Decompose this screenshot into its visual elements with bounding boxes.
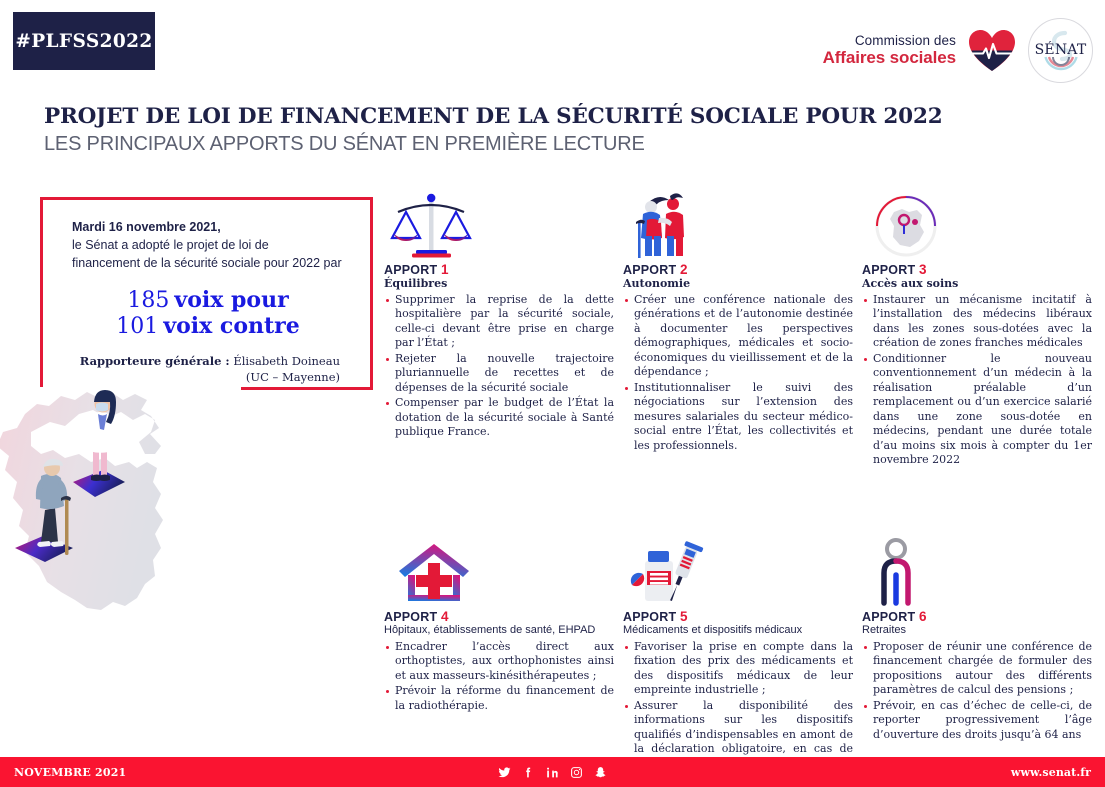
medical-access-map-icon (862, 184, 1092, 262)
snapchat-icon[interactable] (594, 766, 607, 779)
apport-card-3: APPORT 3 Accès aux soins Instaurer un mé… (862, 184, 1092, 469)
vote-text-line1: le Sénat a adopté le projet de loi de (72, 236, 344, 254)
senat-logo: SÉNAT (1028, 18, 1093, 83)
list-item: Proposer de réunir une conférence de fin… (862, 640, 1092, 698)
linkedin-icon[interactable] (546, 766, 559, 779)
svg-text:SÉNAT: SÉNAT (1035, 40, 1087, 58)
apport-card-2: APPORT 2 Autonomie Créer une conférence … (623, 184, 853, 469)
votes-for: 185 voix pour (72, 288, 344, 314)
apport-number: 3 (919, 262, 927, 277)
apport-card-4: APPORT 4 Hôpitaux, établissements de san… (384, 531, 614, 787)
twitter-icon[interactable] (498, 766, 511, 779)
infographic-page: #PLFSS2022 Commission des Affaires socia… (0, 0, 1105, 787)
apport-number: 6 (919, 609, 927, 624)
list-item: Prévoir, en cas d’échec de celle-ci, de … (862, 699, 1092, 743)
instagram-icon[interactable] (570, 766, 583, 779)
apport-card-2-bullets: Créer une conférence nationale des génér… (623, 293, 853, 454)
medicine-syringe-icon (623, 531, 853, 609)
page-subtitle: LES PRINCIPAUX APPORTS DU SÉNAT EN PREMI… (44, 133, 645, 156)
list-item: Instaurer un mécanisme incitatif à l’ins… (862, 293, 1092, 351)
list-item: Institutionnaliser le suivi des négociat… (623, 381, 853, 454)
votes-against-count: 101 (116, 314, 158, 339)
brand-block: Commission des Affaires sociales SÉNAT (823, 18, 1093, 83)
list-item: Supprimer la reprise de la dette hospita… (384, 293, 614, 351)
apport-card-2-head: APPORT 2 (623, 262, 853, 277)
apport-label: APPORT (862, 610, 915, 624)
vote-date: Mardi 16 novembre 2021, (72, 218, 344, 236)
hashtag-label: #PLFSS2022 (15, 31, 152, 52)
apport-card-1-subtitle: Équilibres (384, 277, 614, 291)
apport-card-4-subtitle: Hôpitaux, établissements de santé, EHPAD (384, 624, 614, 638)
list-item: Créer une conférence nationale des génér… (623, 293, 853, 380)
list-item: Rejeter la nouvelle trajectoire pluriann… (384, 352, 614, 396)
retired-person-cane-icon (862, 531, 1092, 609)
footer-date: NOVEMBRE 2021 (14, 766, 126, 779)
hashtag-badge: #PLFSS2022 (13, 12, 155, 70)
apport-label: APPORT (623, 610, 676, 624)
commission-line2: Affaires sociales (823, 48, 956, 68)
votes-for-label: voix pour (174, 287, 288, 313)
list-item: Encadrer l’accès direct aux orthoptistes… (384, 640, 614, 684)
apport-card-6-bullets: Proposer de réunir une conférence de fin… (862, 640, 1092, 743)
facebook-icon[interactable] (522, 766, 535, 779)
vote-text-line2: financement de la sécurité sociale pour … (72, 254, 344, 272)
page-title: PROJET DE LOI DE FINANCEMENT DE LA SÉCUR… (44, 104, 942, 129)
hospital-cross-icon (384, 531, 614, 609)
apport-card-1-head: APPORT 1 (384, 262, 614, 277)
apports-row-1: APPORT 1 Équilibres Supprimer la reprise… (384, 184, 1096, 469)
votes-against-label: voix contre (163, 313, 299, 339)
footer-url: www.senat.fr (1011, 766, 1091, 779)
france-map-shape (0, 392, 163, 610)
heart-pulse-icon (968, 29, 1016, 73)
apport-card-4-bullets: Encadrer l’accès direct aux orthoptistes… (384, 640, 614, 714)
apport-card-1-bullets: Supprimer la reprise de la dette hospita… (384, 293, 614, 440)
apport-number: 5 (680, 609, 688, 624)
commission-line1: Commission des (823, 33, 956, 49)
apport-card-1: APPORT 1 Équilibres Supprimer la reprise… (384, 184, 614, 469)
apport-card-5: APPORT 5 Médicaments et dispositifs médi… (623, 531, 853, 787)
apport-card-4-head: APPORT 4 (384, 609, 614, 624)
apport-number: 2 (680, 262, 688, 277)
france-map-illustration (0, 370, 255, 660)
list-item: Favoriser la prise en compte dans la fix… (623, 640, 853, 698)
balance-scale-icon (384, 184, 614, 262)
list-item: Compenser par le budget de l’État la dot… (384, 396, 614, 440)
apport-card-5-subtitle: Médicaments et dispositifs médicaux (623, 624, 853, 638)
rapporteur-label: Rapporteure générale : (80, 354, 230, 368)
footer-bar: NOVEMBRE 2021 www.senat.fr (0, 757, 1105, 787)
votes-against: 101 voix contre (72, 314, 344, 340)
apport-card-6-head: APPORT 6 (862, 609, 1092, 624)
list-item: Conditionner le nouveau conventionnement… (862, 352, 1092, 468)
apport-card-3-head: APPORT 3 (862, 262, 1092, 277)
apport-card-6: APPORT 6 Retraites Proposer de réunir un… (862, 531, 1092, 787)
apport-label: APPORT (384, 610, 437, 624)
apports-grid: APPORT 1 Équilibres Supprimer la reprise… (384, 184, 1096, 787)
list-item: Prévoir la réforme du financement de la … (384, 684, 614, 713)
apport-card-3-bullets: Instaurer un mécanisme incitatif à l’ins… (862, 293, 1092, 468)
vote-summary-box: Mardi 16 novembre 2021, le Sénat a adopt… (40, 197, 370, 387)
commission-text: Commission des Affaires sociales (823, 33, 956, 68)
apport-number: 1 (441, 262, 449, 277)
footer-social-links (493, 766, 613, 779)
vote-results: 185 voix pour 101 voix contre (72, 288, 344, 340)
apport-number: 4 (441, 609, 449, 624)
votes-for-count: 185 (127, 288, 169, 313)
apport-card-3-subtitle: Accès aux soins (862, 277, 1092, 291)
rapporteur-name: Élisabeth Doineau (233, 354, 340, 368)
apports-row-2: APPORT 4 Hôpitaux, établissements de san… (384, 531, 1096, 787)
apport-card-2-subtitle: Autonomie (623, 277, 853, 291)
apport-card-6-subtitle: Retraites (862, 624, 1092, 638)
apport-label: APPORT (623, 263, 676, 277)
caregiver-elderly-icon (623, 184, 853, 262)
apport-label: APPORT (384, 263, 437, 277)
apport-card-5-head: APPORT 5 (623, 609, 853, 624)
apport-label: APPORT (862, 263, 915, 277)
